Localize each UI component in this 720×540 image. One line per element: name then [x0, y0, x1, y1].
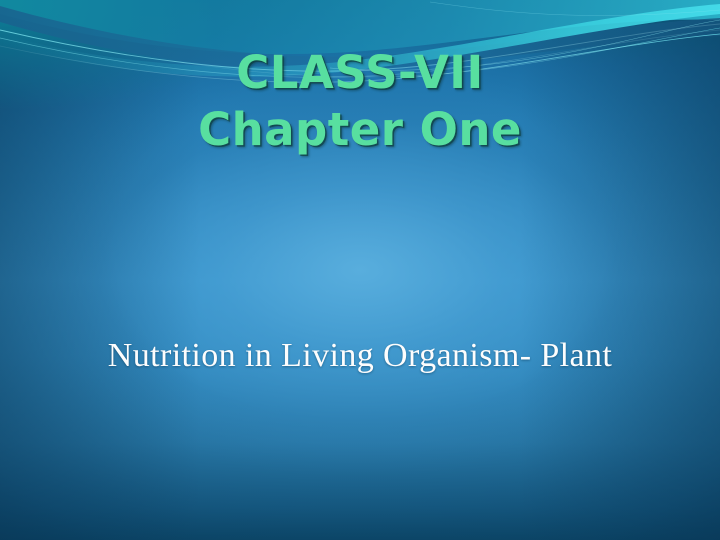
title-line-2: Chapter One: [0, 101, 720, 158]
title-line-1: CLASS-VII: [0, 44, 720, 101]
subtitle-container: Nutrition in Living Organism- Plant: [0, 334, 720, 378]
title-slide: CLASS-VII Chapter One Nutrition in Livin…: [0, 0, 720, 540]
page-title: CLASS-VII Chapter One: [0, 44, 720, 158]
subtitle-text: Nutrition in Living Organism- Plant: [108, 334, 612, 378]
